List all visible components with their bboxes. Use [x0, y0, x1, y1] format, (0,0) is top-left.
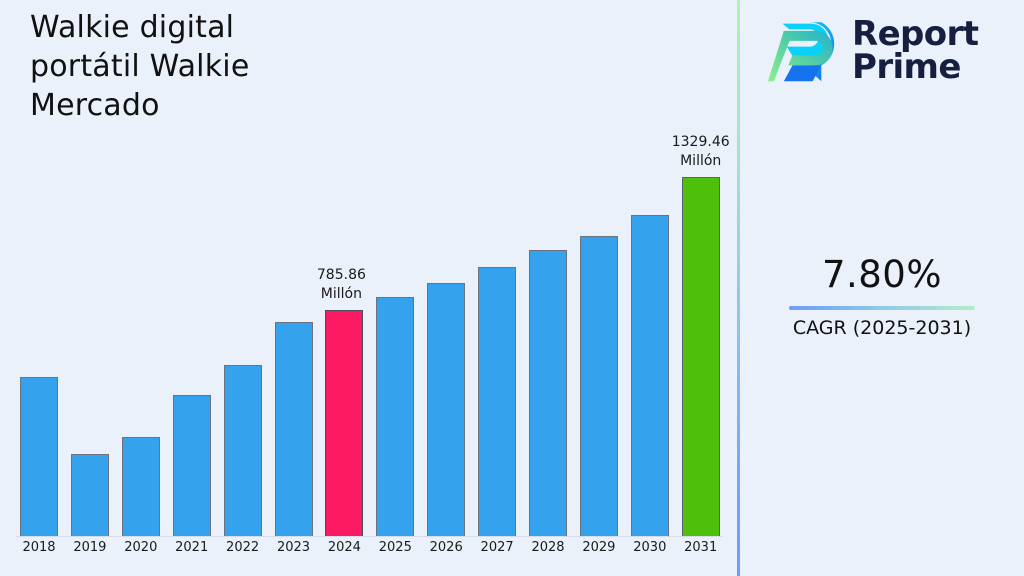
brand-wordmark: Report Prime: [852, 18, 978, 84]
bar-2025[interactable]: [376, 297, 414, 536]
bar-2019[interactable]: [71, 454, 109, 536]
info-panel: Report Prime 7.80% CAGR (2025-2031): [740, 0, 1024, 576]
bar-2027[interactable]: [478, 267, 516, 536]
chart-panel: Walkie digital portátil Walkie Mercado 7…: [0, 0, 737, 576]
cagr-caption: CAGR (2025-2031): [740, 316, 1024, 341]
bar-2029[interactable]: [580, 236, 618, 536]
bar-2018[interactable]: [20, 377, 58, 536]
page-title: Walkie digital portátil Walkie Mercado: [30, 8, 350, 125]
x-axis-tick-labels: 2018201920202021202220232024202520262027…: [0, 540, 737, 564]
bar-2028[interactable]: [529, 250, 567, 536]
bar-rect-2018[interactable]: [20, 377, 58, 536]
bar-2020[interactable]: [122, 437, 160, 536]
screenshot-root: Walkie digital portátil Walkie Mercado 7…: [0, 0, 1024, 576]
bar-rect-2019[interactable]: [71, 454, 109, 536]
cagr-block: 7.80% CAGR (2025-2031): [740, 252, 1024, 341]
bar-rect-2027[interactable]: [478, 267, 516, 536]
cagr-value: 7.80%: [740, 252, 1024, 297]
bar-2023[interactable]: [275, 322, 313, 536]
bar-2022[interactable]: [224, 365, 262, 536]
bar-rect-2024[interactable]: [325, 310, 363, 536]
brand-logo: Report Prime: [768, 10, 1008, 92]
report-prime-logo-mark: [768, 15, 840, 87]
cagr-divider-rule: [789, 306, 975, 310]
bar-2024[interactable]: 785.86 Millón: [325, 310, 363, 536]
bar-rect-2022[interactable]: [224, 365, 262, 536]
bar-rect-2028[interactable]: [529, 250, 567, 536]
bar-rect-2025[interactable]: [376, 297, 414, 536]
bar-rect-2030[interactable]: [631, 215, 669, 536]
bar-rect-2029[interactable]: [580, 236, 618, 536]
bar-2026[interactable]: [427, 283, 465, 536]
bar-rect-2031[interactable]: [682, 177, 720, 536]
chart-baseline: [16, 536, 723, 537]
bar-chart-plot-area: 785.86 Millón1329.46 Millón: [0, 130, 737, 537]
bar-2021[interactable]: [173, 395, 211, 536]
bar-2030[interactable]: [631, 215, 669, 536]
bar-rect-2020[interactable]: [122, 437, 160, 536]
x-tick-2031: 2031: [671, 540, 731, 555]
bar-rect-2026[interactable]: [427, 283, 465, 536]
bar-rect-2023[interactable]: [275, 322, 313, 536]
bar-2031[interactable]: 1329.46 Millón: [682, 177, 720, 536]
bar-rect-2021[interactable]: [173, 395, 211, 536]
